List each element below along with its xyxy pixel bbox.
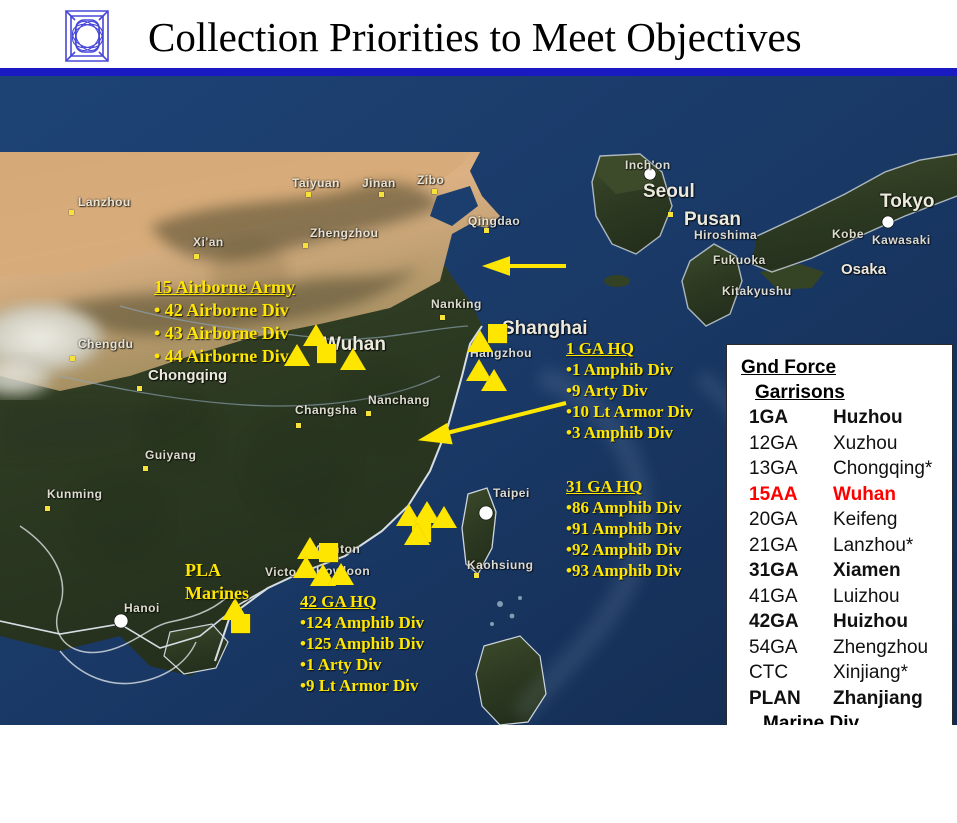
tweet-footer: علي U.S. Central Command @CENTCOM · 6m P… <box>0 725 957 823</box>
header-divider <box>0 68 957 76</box>
page-title: Collection Priorities to Meet Objectives <box>148 12 802 62</box>
legend-row: 15AAWuhan <box>741 482 952 508</box>
gnd-force-garrisons-legend: Gnd Force Garrisons 1GAHuzhou12GAXuzhou1… <box>726 344 953 725</box>
city-dot <box>143 466 148 471</box>
legend-row: CTCXinjiang* <box>741 660 952 686</box>
unit-marker-plan-marine[interactable] <box>231 614 250 633</box>
annotation-31ga-hq-header: 31 GA HQ <box>566 476 682 497</box>
annotation-1ga-hq-item: •9 Arty Div <box>566 380 693 401</box>
legend-title-line1: Gnd Force <box>741 355 952 380</box>
legend-garrison: Wuhan <box>833 482 952 508</box>
annotation-42ga-hq-item: •9 Lt Armor Div <box>300 675 424 696</box>
city-dot <box>306 192 311 197</box>
legend-garrison: Zhengzhou <box>833 635 952 661</box>
legend-row: 20GAKeifeng <box>741 507 952 533</box>
unit-marker-xiamen-3[interactable] <box>431 506 457 528</box>
legend-unit: 21GA <box>749 533 833 559</box>
annotation-31ga-hq-item: •92 Amphib Div <box>566 539 682 560</box>
city-dot <box>70 356 75 361</box>
annotation-42ga-hq-header: 42 GA HQ <box>300 591 424 612</box>
annotation-42ga-hq: 42 GA HQ•124 Amphib Div•125 Amphib Div•1… <box>300 591 424 696</box>
unit-marker-1ga-hq[interactable] <box>488 324 507 343</box>
annotation-1ga-hq-header: 1 GA HQ <box>566 338 693 359</box>
legend-unit: 41GA <box>749 584 833 610</box>
legend-garrison: Keifeng <box>833 507 952 533</box>
legend-rows: 1GAHuzhou12GAXuzhou13GAChongqing*15AAWuh… <box>741 405 952 711</box>
legend-row: 54GAZhengzhou <box>741 635 952 661</box>
annotation-15-airborne-army-header: 15 Airborne Army <box>154 276 295 299</box>
annotation-31ga-hq-item: •91 Amphib Div <box>566 518 682 539</box>
legend-title-line2: Garrisons <box>755 380 952 405</box>
annotation-1ga-hq-item: •10 Lt Armor Div <box>566 401 693 422</box>
legend-unit: 12GA <box>749 431 833 457</box>
legend-unit: 42GA <box>749 609 833 635</box>
annotation-31ga-hq-item: •93 Amphib Div <box>566 560 682 581</box>
slide-screenshot: Collection Priorities to Meet Objectives <box>0 0 957 823</box>
legend-row: 12GAXuzhou <box>741 431 952 457</box>
annotation-42ga-hq-item: •1 Arty Div <box>300 654 424 675</box>
city-dot <box>379 192 384 197</box>
city-dot <box>303 243 308 248</box>
city-dot <box>137 386 142 391</box>
legend-row: PLANZhanjiang <box>741 686 952 712</box>
city-dot <box>474 573 479 578</box>
satellite-map[interactable]: LanzhouTaiyuanJinanZiboQingdaoXi'anZheng… <box>0 76 957 725</box>
unit-marker-wuhan-3[interactable] <box>340 348 366 370</box>
legend-garrison: Xinjiang* <box>833 660 952 686</box>
annotation-15-airborne-army: 15 Airborne Army• 42 Airborne Div• 43 Ai… <box>154 276 295 368</box>
unit-marker-42ga-hq[interactable] <box>319 543 338 562</box>
legend-unit: 20GA <box>749 507 833 533</box>
legend-unit: 15AA <box>749 482 833 508</box>
legend-unit: 1GA <box>749 405 833 431</box>
city-dot <box>296 423 301 428</box>
unit-marker-wuhan-1[interactable] <box>303 324 329 346</box>
annotation-15-airborne-army-item: • 44 Airborne Div <box>154 345 295 368</box>
legend-row: 41GALuizhou <box>741 584 952 610</box>
annotation-1ga-hq: 1 GA HQ•1 Amphib Div•9 Arty Div•10 Lt Ar… <box>566 338 693 443</box>
legend-unit: PLAN <box>749 686 833 712</box>
annotation-15-airborne-army-item: • 43 Airborne Div <box>154 322 295 345</box>
city-dot <box>668 212 673 217</box>
legend-row: 1GAHuzhou <box>741 405 952 431</box>
legend-garrison: Huzhou <box>833 405 952 431</box>
legend-unit: 13GA <box>749 456 833 482</box>
legend-unit: 31GA <box>749 558 833 584</box>
legend-garrison: Lanzhou* <box>833 533 952 559</box>
annotation-31ga-hq-item: •86 Amphib Div <box>566 497 682 518</box>
city-dot <box>69 210 74 215</box>
unit-marker-hangzhou-2[interactable] <box>481 369 507 391</box>
city-dot <box>194 254 199 259</box>
legend-unit: CTC <box>749 660 833 686</box>
legend-garrison: Luizhou <box>833 584 952 610</box>
annotation-42ga-hq-item: •124 Amphib Div <box>300 612 424 633</box>
annotation-pla-marines-item: PLA <box>185 559 249 582</box>
annotation-1ga-hq-item: •3 Amphib Div <box>566 422 693 443</box>
unit-marker-xiamen-4[interactable] <box>404 523 430 545</box>
unit-marker-canton-4[interactable] <box>328 563 354 585</box>
legend-row: 13GAChongqing* <box>741 456 952 482</box>
legend-sub-row: Marine Div. <box>763 711 952 725</box>
centcom-seal-logo-icon <box>62 8 114 64</box>
legend-garrison: Xuzhou <box>833 431 952 457</box>
legend-garrison: Huizhou <box>833 609 952 635</box>
legend-unit: 54GA <box>749 635 833 661</box>
slide-header: Collection Priorities to Meet Objectives <box>0 0 957 68</box>
legend-row: 21GALanzhou* <box>741 533 952 559</box>
legend-garrison: Chongqing* <box>833 456 952 482</box>
city-dot <box>432 189 437 194</box>
annotation-pla-marines: PLAMarines <box>185 559 249 605</box>
city-dot <box>45 506 50 511</box>
city-dot <box>366 411 371 416</box>
city-dot <box>484 228 489 233</box>
annotation-pla-marines-item: Marines <box>185 582 249 605</box>
annotation-31ga-hq: 31 GA HQ•86 Amphib Div•91 Amphib Div•92 … <box>566 476 682 581</box>
unit-marker-wuhan-hq[interactable] <box>317 344 336 363</box>
annotation-42ga-hq-item: •125 Amphib Div <box>300 633 424 654</box>
city-dot <box>440 315 445 320</box>
legend-row: 42GAHuizhou <box>741 609 952 635</box>
legend-row: 31GAXiamen <box>741 558 952 584</box>
annotation-15-airborne-army-item: • 42 Airborne Div <box>154 299 295 322</box>
annotation-1ga-hq-item: •1 Amphib Div <box>566 359 693 380</box>
legend-garrison: Zhanjiang <box>833 686 952 712</box>
legend-garrison: Xiamen <box>833 558 952 584</box>
